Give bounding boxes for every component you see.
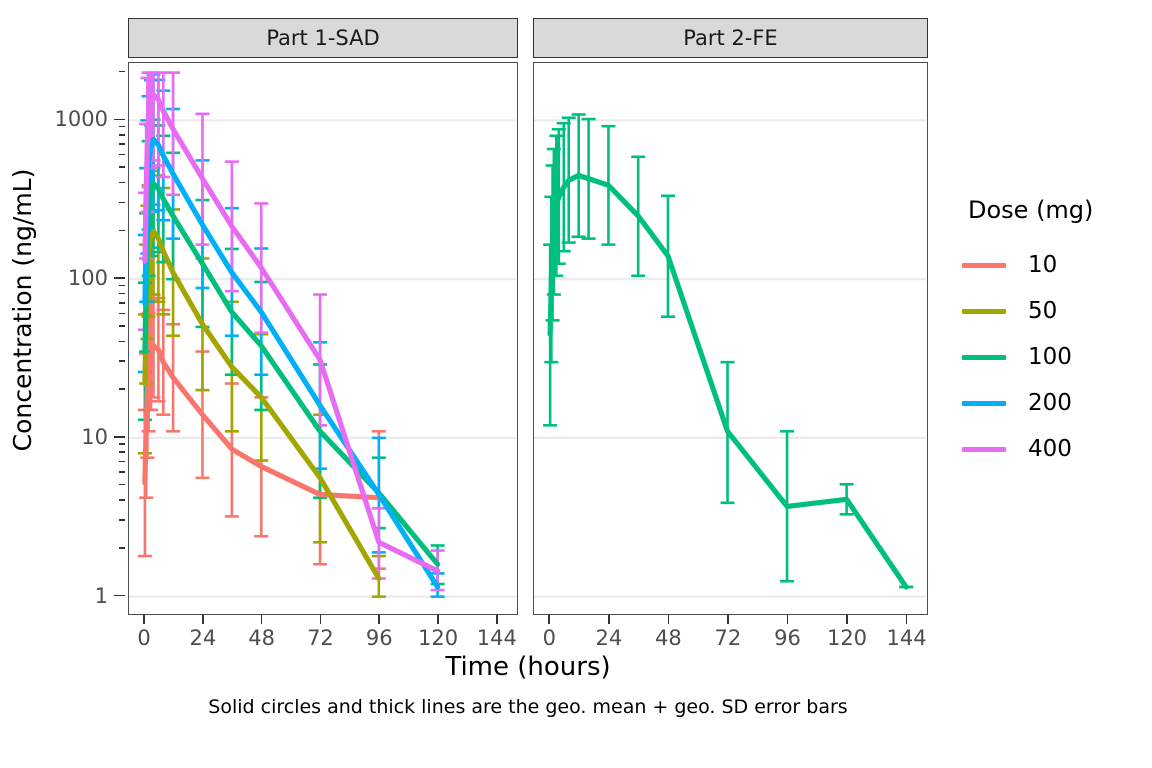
y-tick-mark-minor (119, 499, 125, 501)
y-tick-mark-minor (119, 285, 125, 287)
legend-item[interactable]: 50 (962, 288, 1147, 334)
x-tick-label: 96 (774, 626, 801, 650)
x-tick-mark (261, 615, 263, 624)
y-tick-mark-minor (119, 126, 125, 128)
legend-label: 10 (1028, 252, 1057, 278)
x-tick-mark (437, 615, 439, 624)
y-tick-mark-minor (119, 182, 125, 184)
y-tick-label: 100 (28, 266, 108, 290)
chart-root: Concentration (ng/mL) 1101001000 Part 1-… (0, 0, 1152, 768)
x-tick-mark (846, 615, 848, 624)
y-tick-mark-minor (119, 519, 125, 521)
x-tick-label: 120 (827, 626, 867, 650)
x-tick-mark (548, 615, 550, 624)
legend-item[interactable]: 200 (962, 380, 1147, 426)
y-tick-mark-minor (119, 547, 125, 549)
series-line-dose-400 (145, 95, 438, 571)
x-tick-label: 144 (887, 626, 927, 650)
y-tick-mark-minor (119, 154, 125, 156)
legend: Dose (mg) 1050100200400 (962, 196, 1147, 472)
x-tick-label: 0 (137, 626, 150, 650)
x-tick-mark (608, 615, 610, 624)
y-tick-label: 1 (28, 584, 108, 608)
y-tick-mark-minor (119, 388, 125, 390)
y-tick-mark-minor (119, 471, 125, 473)
y-tick-mark-minor (119, 484, 125, 486)
y-tick-mark-major (114, 595, 125, 597)
plot-svg-part-2-fe (534, 63, 926, 612)
series-line-dose-100 (145, 184, 438, 565)
facet-strip-label-part-2-fe: Part 2-FE (533, 18, 928, 58)
legend-color-key (962, 447, 1006, 452)
legend-color-key (962, 263, 1006, 268)
y-tick-mark-minor (119, 443, 125, 445)
facet-panel-part-1-sad: Part 1-SAD (128, 18, 518, 615)
y-tick-mark-minor (119, 302, 125, 304)
x-tick-label: 24 (595, 626, 622, 650)
y-tick-mark-minor (119, 461, 125, 463)
y-tick-mark-minor (119, 360, 125, 362)
x-tick-mark (378, 615, 380, 624)
legend-item[interactable]: 400 (962, 426, 1147, 472)
y-tick-label: 1000 (28, 107, 108, 131)
x-tick-mark (320, 615, 322, 624)
x-axis-title: Time (hours) (128, 652, 928, 682)
plot-area-part-1-sad (128, 62, 518, 615)
y-tick-mark-minor (119, 451, 125, 453)
x-tick-label: 96 (366, 626, 393, 650)
plot-svg-part-1-sad (129, 63, 516, 612)
y-tick-mark-major (114, 277, 125, 279)
legend-label: 400 (1028, 436, 1072, 462)
y-tick-mark-minor (119, 325, 125, 327)
chart-caption: Solid circles and thick lines are the ge… (128, 696, 928, 718)
y-tick-mark-major (114, 436, 125, 438)
legend-item[interactable]: 10 (962, 242, 1147, 288)
legend-label: 100 (1028, 344, 1072, 370)
x-tick-mark (202, 615, 204, 624)
y-tick-mark-minor (119, 143, 125, 145)
legend-label: 50 (1028, 298, 1057, 324)
legend-color-key (962, 309, 1006, 314)
y-tick-mark-minor (119, 341, 125, 343)
y-axis-tick-labels: 1101001000 (28, 0, 108, 768)
facet-panel-part-2-fe: Part 2-FE (533, 18, 928, 615)
x-tick-label: 72 (715, 626, 742, 650)
x-tick-mark (727, 615, 729, 624)
legend-items: 1050100200400 (962, 242, 1147, 472)
legend-label: 200 (1028, 390, 1072, 416)
x-tick-label: 24 (190, 626, 217, 650)
y-tick-mark-major (114, 119, 125, 121)
legend-color-key (962, 401, 1006, 406)
x-tick-mark (668, 615, 670, 624)
x-tick-label: 120 (418, 626, 458, 650)
y-tick-mark-minor (119, 134, 125, 136)
y-tick-mark-minor (119, 313, 125, 315)
legend-color-key (962, 355, 1006, 360)
x-tick-label: 48 (655, 626, 682, 650)
y-tick-mark-minor (119, 202, 125, 204)
plot-area-part-2-fe (533, 62, 928, 615)
x-tick-mark (143, 615, 145, 624)
x-tick-mark (787, 615, 789, 624)
x-tick-mark (496, 615, 498, 624)
legend-title: Dose (mg) (968, 196, 1147, 224)
facet-strip-label-part-1-sad: Part 1-SAD (128, 18, 518, 58)
x-tick-mark (906, 615, 908, 624)
y-tick-mark-minor (119, 166, 125, 168)
y-tick-label: 10 (28, 425, 108, 449)
y-axis-tick-marks (111, 0, 125, 768)
x-tick-label: 0 (543, 626, 556, 650)
y-tick-mark-minor (119, 71, 125, 73)
y-tick-mark-minor (119, 230, 125, 232)
x-tick-label: 48 (248, 626, 275, 650)
x-tick-label: 72 (307, 626, 334, 650)
y-tick-mark-minor (119, 293, 125, 295)
legend-item[interactable]: 100 (962, 334, 1147, 380)
series-line-dose-200 (145, 139, 438, 587)
x-tick-label: 144 (477, 626, 517, 650)
